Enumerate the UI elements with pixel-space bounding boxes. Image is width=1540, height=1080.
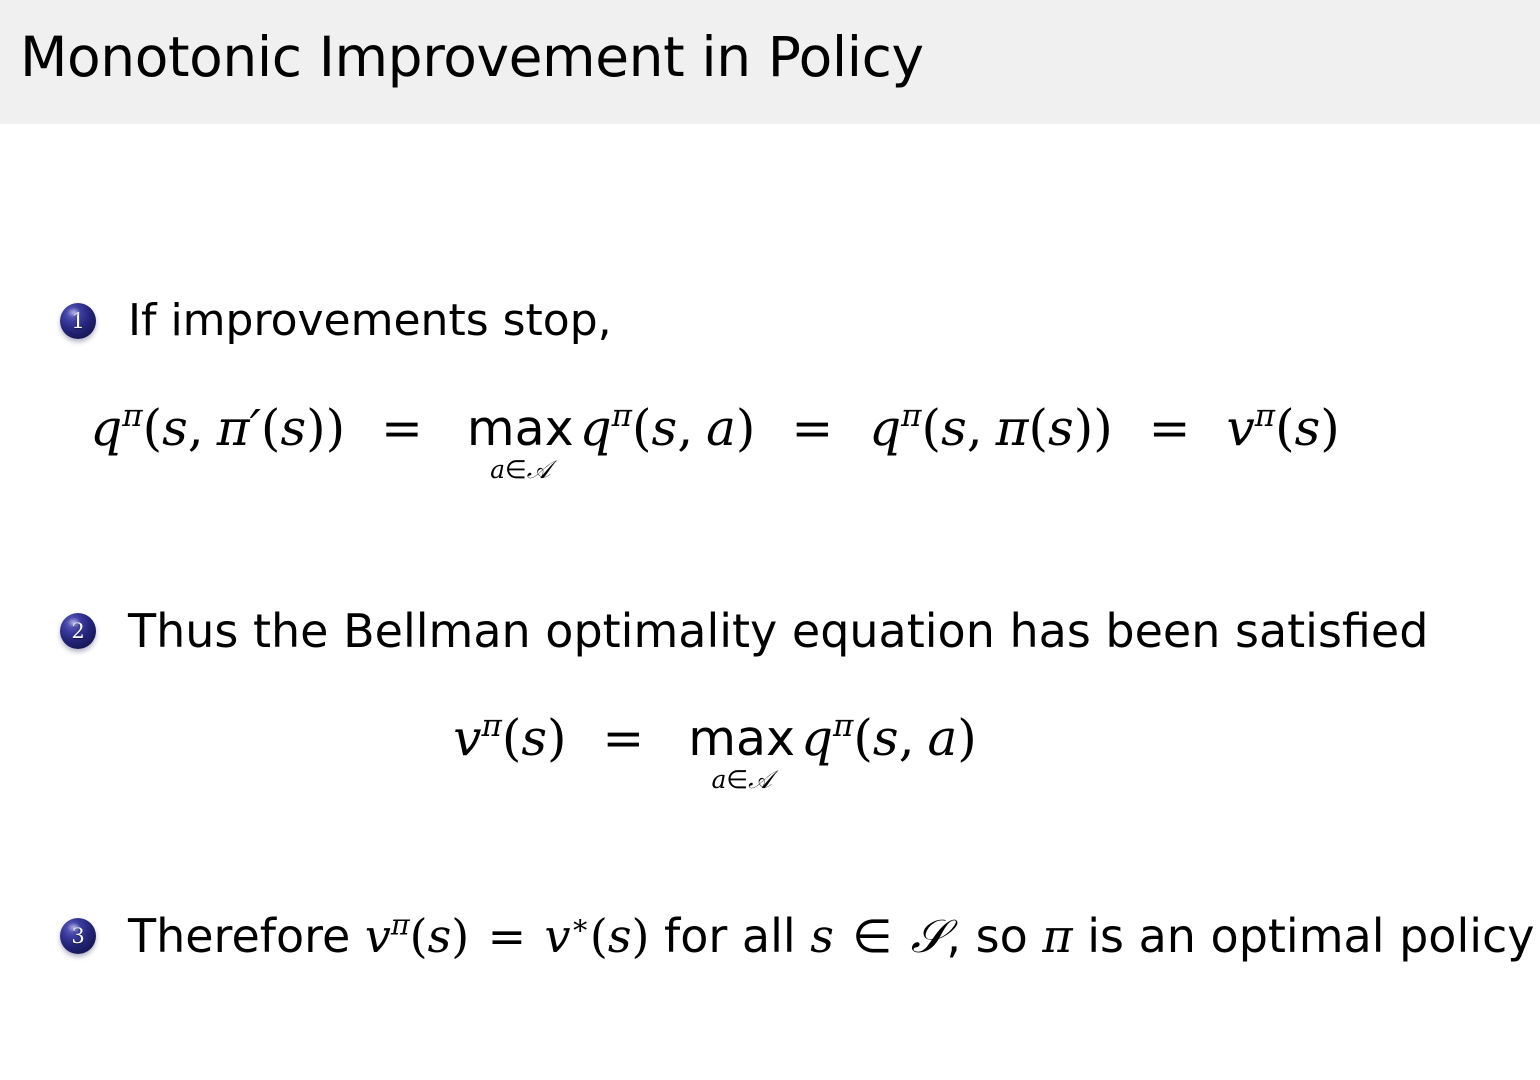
equation-2-rhs: qπ(s,a) — [801, 709, 977, 767]
item3-mid-text: for all — [664, 909, 796, 963]
equation-1-third: qπ(s,π(s)) — [869, 399, 1113, 457]
math-rparen: ) — [306, 399, 326, 457]
math-s: s — [428, 909, 452, 963]
math-lparen: ( — [632, 399, 652, 457]
equation-1: qπ(s,π′(s)) = max a∈𝒜 qπ(s,a) = qπ(s,π(s… — [0, 399, 1540, 482]
math-s: s — [1295, 399, 1321, 457]
math-lparen: ( — [1029, 399, 1049, 457]
list-item-3: 3 Therefore vπ(s)=v∗(s) for all s∈𝒮, so … — [60, 909, 1535, 963]
math-cal-A: 𝒜 — [748, 765, 772, 794]
math-a: a — [711, 765, 726, 794]
equation-1-rhs: vπ(s) — [1226, 399, 1339, 457]
math-max-operator: max a∈𝒜 — [467, 404, 574, 482]
math-rparen: ) — [1074, 399, 1094, 457]
item3-inline-equation: vπ(s)=v∗(s) — [365, 909, 650, 963]
list-item-2-label: Thus the Bellman optimality equation has… — [128, 604, 1428, 658]
math-s: s — [521, 709, 547, 767]
math-rparen: ) — [451, 909, 469, 963]
math-pi-inline: π — [1042, 909, 1072, 963]
math-equals: = — [791, 399, 833, 457]
math-pi: π — [996, 399, 1029, 457]
math-lparen: ( — [853, 709, 873, 767]
math-lparen: ( — [410, 909, 428, 963]
math-comma: , — [188, 399, 204, 457]
equation-1-mid: qπ(s,a) — [580, 399, 756, 457]
math-pi-sup: π — [1255, 398, 1275, 434]
math-in: ∈ — [505, 455, 527, 484]
math-s: s — [1048, 399, 1074, 457]
math-s: s — [810, 909, 834, 963]
math-pi-sup: π — [901, 398, 921, 434]
list-item-3-label: Therefore vπ(s)=v∗(s) for all s∈𝒮, so π … — [128, 909, 1535, 963]
math-v: v — [1226, 399, 1254, 457]
page-title: Monotonic Improvement in Policy — [20, 24, 924, 90]
math-a: a — [490, 455, 505, 484]
math-s: s — [652, 399, 678, 457]
math-comma: , — [677, 399, 693, 457]
math-s: s — [941, 399, 967, 457]
math-max-subscript: a∈𝒜 — [490, 457, 550, 482]
math-pi-prime: π′ — [217, 399, 261, 457]
math-pi-sup: π — [391, 908, 410, 941]
math-equals: = — [488, 909, 527, 963]
math-comma: , — [899, 709, 915, 767]
math-pi-sup: π — [122, 398, 142, 434]
math-rparen: ) — [1320, 399, 1340, 457]
math-q: q — [90, 399, 122, 457]
math-rparen: ) — [957, 709, 977, 767]
math-star-sup: ∗ — [571, 908, 590, 941]
math-equals: = — [381, 399, 423, 457]
enumerate-marker-icon-3: 3 — [60, 918, 96, 954]
enumerate-marker-icon-2: 2 — [60, 613, 96, 649]
equation-2: vπ(s) = max a∈𝒜 qπ(s,a) — [0, 709, 1540, 792]
math-q: q — [801, 709, 833, 767]
math-v: v — [365, 909, 391, 963]
equation-2-lhs: vπ(s) — [453, 709, 566, 767]
slide-content: 1 If improvements stop, qπ(s,π′(s)) = ma… — [0, 124, 1540, 1080]
math-in: ∈ — [852, 909, 892, 963]
math-rparen: ) — [547, 709, 567, 767]
math-a: a — [927, 709, 957, 767]
math-pi-sup: π — [833, 708, 853, 744]
enumerate-marker-number: 1 — [60, 303, 96, 339]
list-item-1: 1 If improvements stop, — [60, 294, 612, 348]
math-lparen: ( — [502, 709, 522, 767]
math-max-label: max — [467, 404, 574, 453]
math-v: v — [453, 709, 481, 767]
math-rparen: ) — [631, 909, 649, 963]
item3-state-set: s∈𝒮 — [810, 909, 946, 963]
list-item-1-label: If improvements stop, — [128, 294, 612, 348]
item3-lead-text: Therefore — [128, 909, 350, 963]
math-a: a — [706, 399, 736, 457]
equation-1-lhs: qπ(s,π′(s)) — [90, 399, 345, 457]
math-rparen: ) — [326, 399, 346, 457]
math-v: v — [545, 909, 571, 963]
list-item-2: 2 Thus the Bellman optimality equation h… — [60, 604, 1428, 658]
math-lparen: ( — [590, 909, 608, 963]
math-lparen: ( — [922, 399, 942, 457]
math-s: s — [280, 399, 306, 457]
math-s: s — [162, 399, 188, 457]
math-rparen: ) — [736, 399, 756, 457]
math-pi-sup: π — [612, 398, 632, 434]
math-max-label: max — [688, 714, 795, 763]
math-lparen: ( — [143, 399, 163, 457]
math-equals: = — [1149, 399, 1191, 457]
math-cal-S: 𝒮 — [911, 909, 947, 963]
math-s: s — [873, 709, 899, 767]
enumerate-marker-number: 3 — [60, 918, 96, 954]
slide-header-bar: Monotonic Improvement in Policy — [0, 0, 1540, 124]
math-lparen: ( — [261, 399, 281, 457]
math-rparen: ) — [1093, 399, 1113, 457]
math-pi-sup: π — [481, 708, 501, 744]
math-lparen: ( — [1275, 399, 1295, 457]
item3-tail-1: , so — [946, 909, 1027, 963]
math-max-operator: max a∈𝒜 — [688, 714, 795, 792]
item3-tail-2: is an optimal policy — [1087, 909, 1534, 963]
math-comma: , — [967, 399, 983, 457]
math-q: q — [869, 399, 901, 457]
math-in: ∈ — [726, 765, 748, 794]
math-equals: = — [602, 709, 644, 767]
math-q: q — [580, 399, 612, 457]
enumerate-marker-icon-1: 1 — [60, 303, 96, 339]
enumerate-marker-number: 2 — [60, 613, 96, 649]
math-max-subscript: a∈𝒜 — [711, 767, 771, 792]
math-s: s — [608, 909, 632, 963]
math-cal-A: 𝒜 — [527, 455, 551, 484]
